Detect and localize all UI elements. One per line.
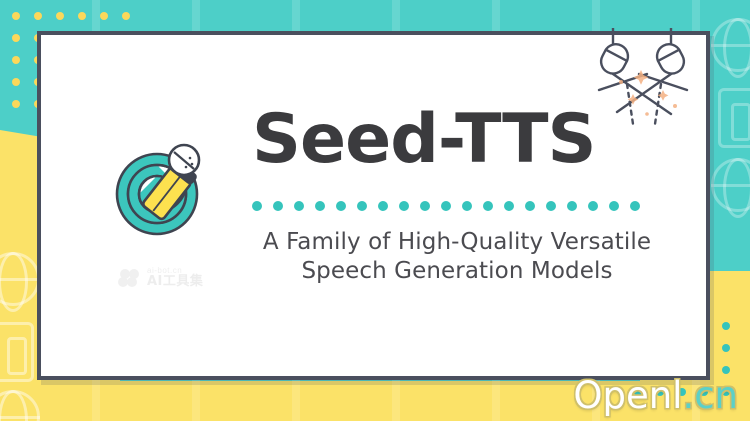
- divider-dot: [315, 201, 325, 211]
- openi-tld: .cn: [682, 374, 738, 417]
- poster-canvas: Seed-TTS A Family of High-Quality Versat…: [0, 0, 750, 421]
- divider-dot: [378, 201, 388, 211]
- page-subtitle: A Family of High-Quality Versatile Speec…: [232, 228, 682, 286]
- subtitle-line-1: A Family of High-Quality Versatile: [232, 228, 682, 257]
- divider-dot: [588, 201, 598, 211]
- ai-bot-name: AI工具集: [147, 275, 203, 288]
- ai-bot-watermark: ai-bot.cn AI工具集: [118, 262, 248, 292]
- openi-name: Openl: [573, 374, 682, 417]
- ai-bot-logo-icon: [118, 267, 142, 287]
- divider-dot: [357, 201, 367, 211]
- dotted-divider: [252, 201, 632, 213]
- divider-dot: [252, 201, 262, 211]
- divider-dot: [399, 201, 409, 211]
- divider-dot: [546, 201, 556, 211]
- subtitle-line-2: Speech Generation Models: [232, 257, 682, 286]
- divider-dot: [630, 201, 640, 211]
- divider-dot: [294, 201, 304, 211]
- divider-dot: [567, 201, 577, 211]
- divider-dot: [525, 201, 535, 211]
- divider-dot: [504, 201, 514, 211]
- divider-dot: [483, 201, 493, 211]
- page-title: Seed-TTS: [252, 106, 652, 174]
- seed-tts-logo: [108, 136, 212, 240]
- divider-dot: [609, 201, 619, 211]
- divider-dot: [441, 201, 451, 211]
- divider-dot: [462, 201, 472, 211]
- openi-watermark: Openl.cn: [573, 374, 738, 417]
- divider-dot: [336, 201, 346, 211]
- divider-dot: [420, 201, 430, 211]
- divider-dot: [273, 201, 283, 211]
